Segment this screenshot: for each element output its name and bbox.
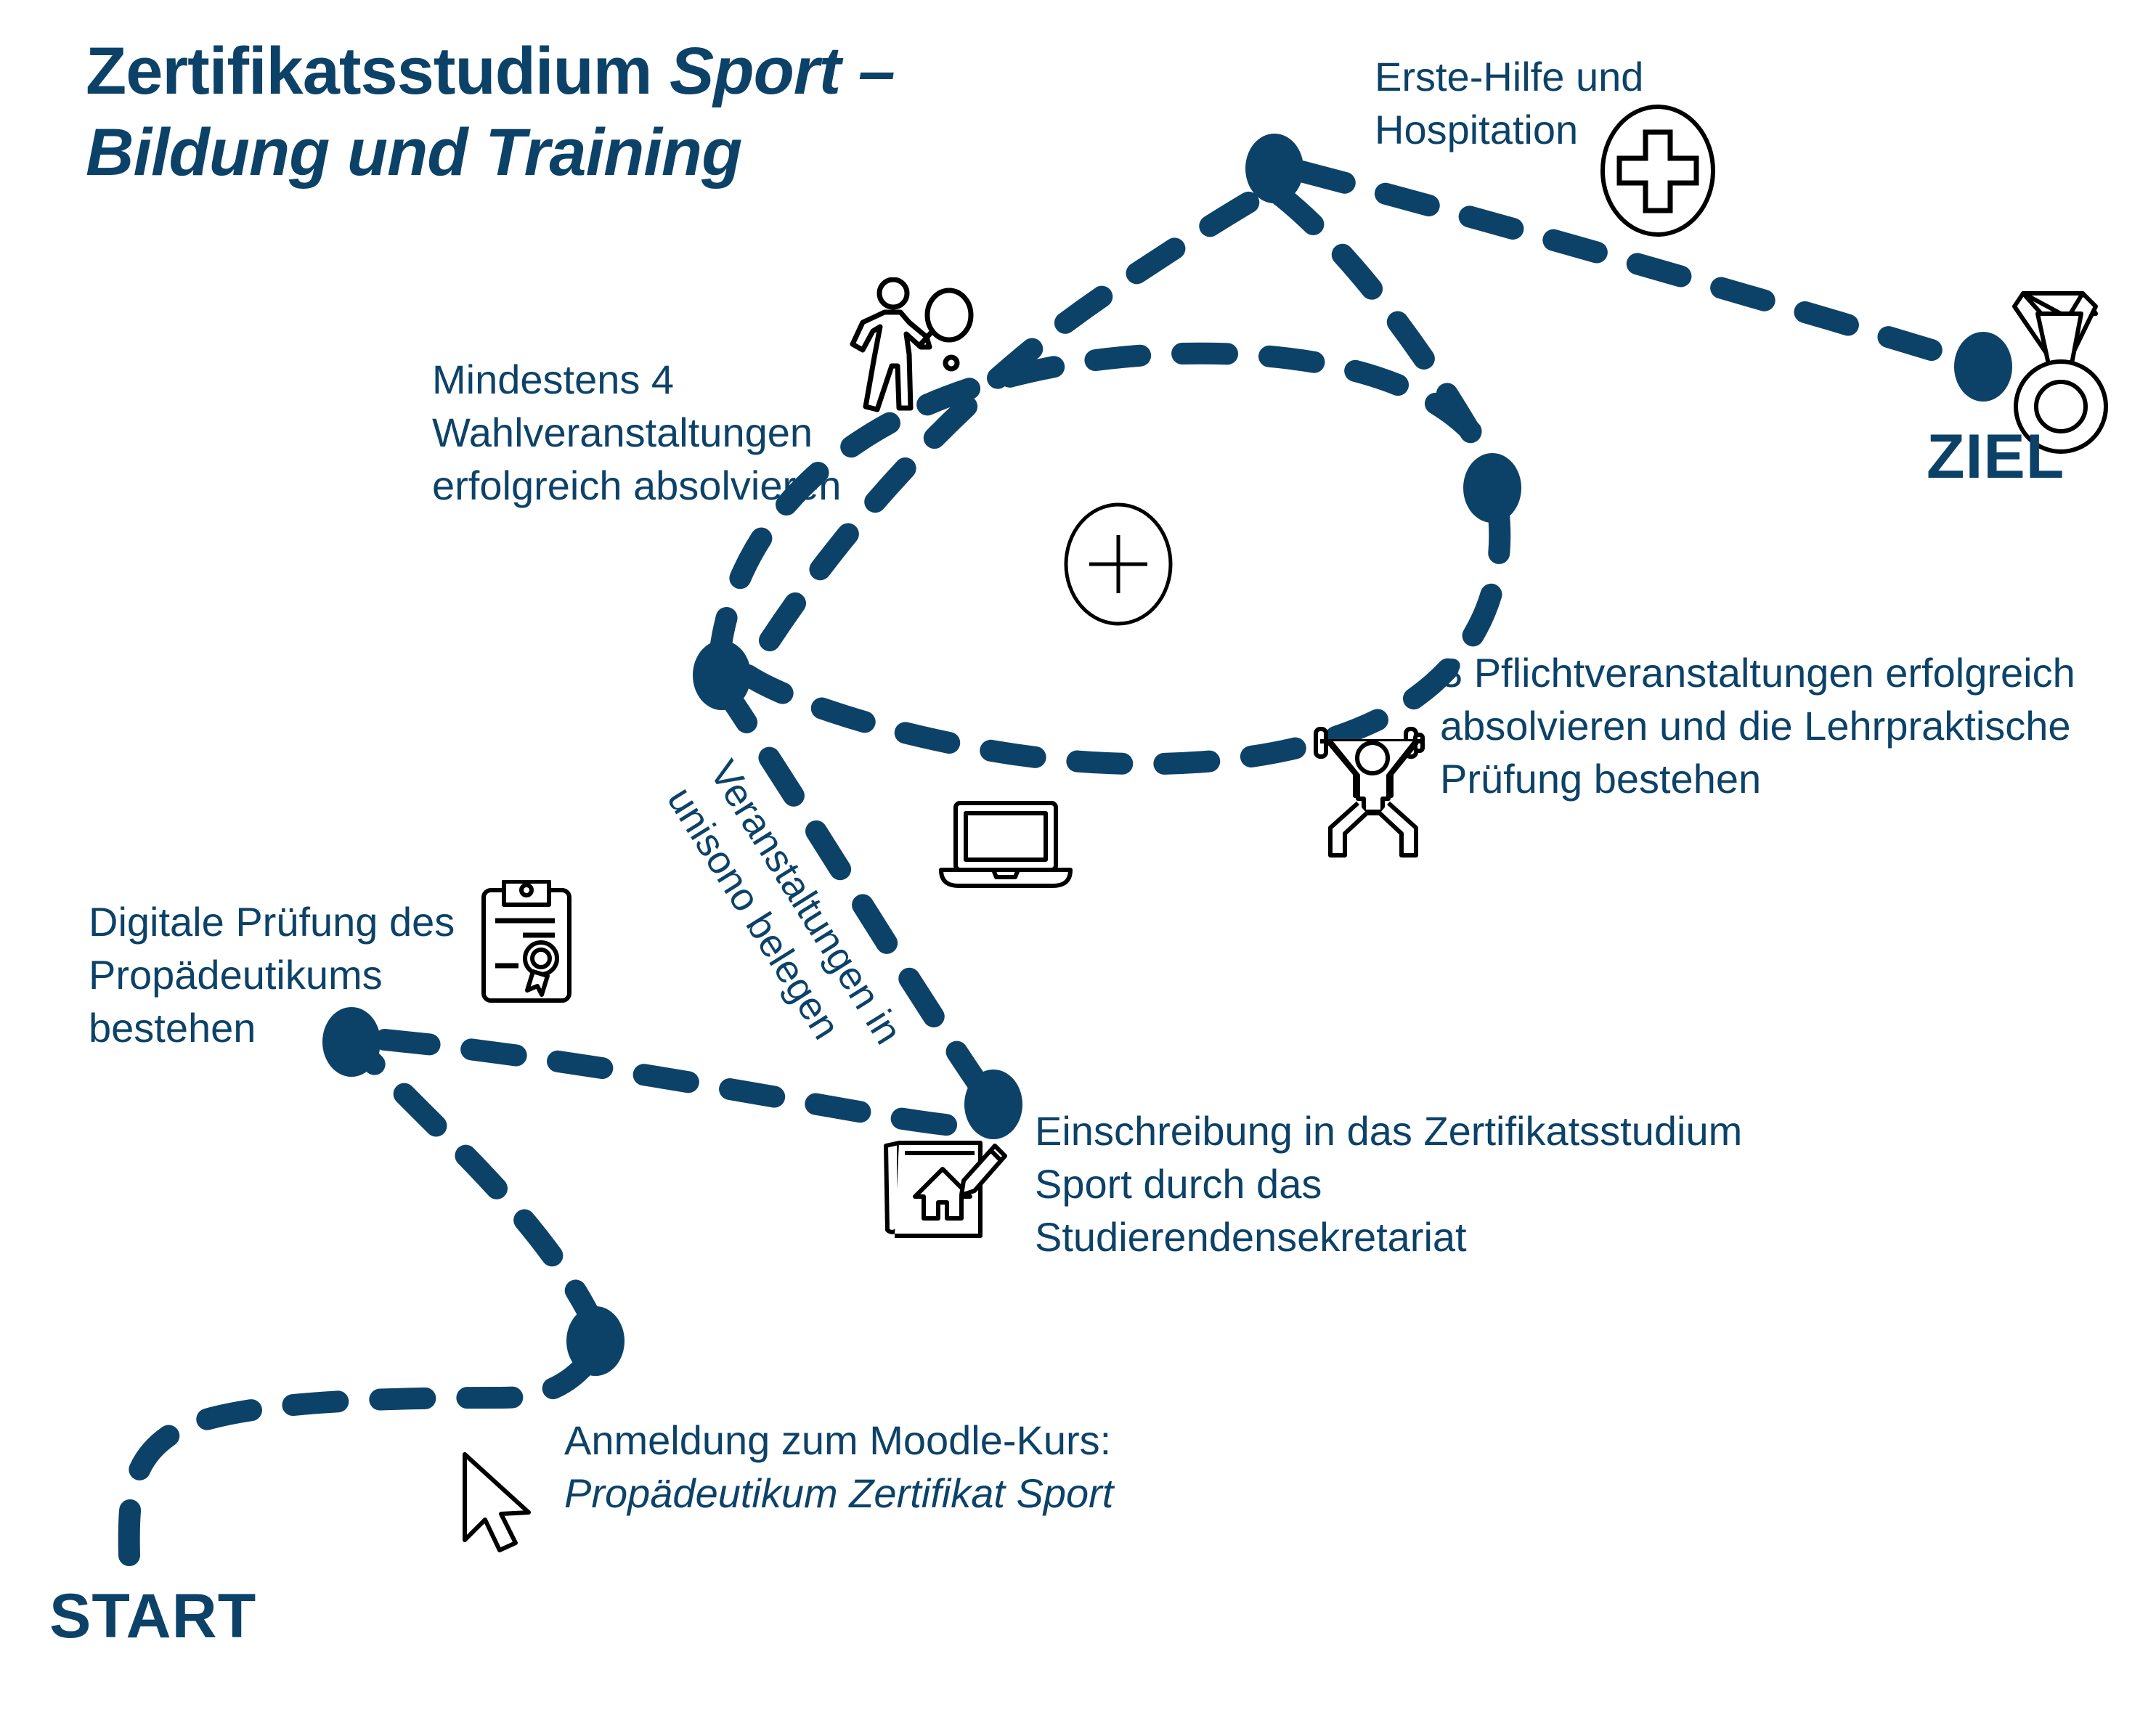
digital-line1: Digitale Prüfung des: [89, 899, 455, 945]
erste-hilfe-line1: Erste-Hilfe und: [1375, 54, 1643, 99]
station-dot-ziel: [1954, 332, 2012, 402]
wahl-line3: erfolgreich absolvieren: [432, 463, 841, 508]
einschreibung-line1: Einschreibung in das Zertifikatsstudium: [1035, 1108, 1742, 1154]
laptop-icon: [937, 799, 1075, 893]
cursor-arrow-icon: [455, 1449, 542, 1557]
station-dot-anmeldung: [566, 1306, 625, 1376]
digital-line3: bestehen: [89, 1005, 256, 1051]
title-line2-italic: Bildung und Training: [86, 115, 741, 190]
infographic-canvas: Zertifikatsstudium Sport –Bildung und Tr…: [0, 0, 2156, 1715]
einschreibung-line3: Studierendensekretariat: [1035, 1214, 1467, 1260]
path-segment-wahl-to-erstehilfe: [770, 190, 1269, 640]
weightlifter-icon: [1313, 717, 1433, 859]
step-label-einschreibung: Einschreibung in das ZertifikatsstudiumS…: [1035, 1105, 1742, 1263]
path-segment-anmeldung-to-digital: [357, 1047, 597, 1330]
title-line1-plain: Zertifikatsstudium: [86, 34, 670, 108]
pflicht-line2: absolvieren und die Lehrpraktische: [1440, 703, 2071, 749]
title-line1-italic: Sport –: [670, 34, 895, 108]
step-label-erste-hilfe: Erste-Hilfe undHospitation: [1375, 51, 1643, 157]
pflicht-line1: 3 Pflichtveranstaltungen erfolgreich: [1440, 650, 2075, 696]
digital-line2: Propädeutikums: [89, 952, 383, 998]
erste-hilfe-line2: Hospitation: [1375, 107, 1578, 152]
step-label-digitale-pruefung: Digitale Prüfung desPropädeutikumsbesteh…: [89, 896, 455, 1054]
blueprint-house-pencil-icon: [880, 1137, 1011, 1257]
start-marker-label: START: [49, 1581, 256, 1653]
station-dot-pflicht: [1463, 453, 1521, 523]
station-dot-einschreibung: [964, 1070, 1022, 1139]
pflicht-line3: Prüfung bestehen: [1440, 756, 1761, 802]
station-dot-wahl: [693, 640, 751, 710]
path-segment-digital-to-einschreibung: [385, 1040, 982, 1128]
page-title: Zertifikatsstudium Sport –Bildung und Tr…: [86, 30, 895, 193]
step-label-anmeldung: Anmeldung zum Moodle-Kurs:Propädeutikum …: [564, 1414, 1113, 1520]
station-dot-erste-hilfe: [1245, 134, 1303, 203]
step-label-pflichtveranstaltungen: 3 Pflichtveranstaltungen erfolgreichabso…: [1440, 647, 2075, 805]
clipboard-certificate-icon: [479, 880, 588, 1014]
tennis-player-icon: [837, 277, 982, 415]
step-label-wahlveranstaltungen: Mindestens 4Wahlveranstaltungenerfolgrei…: [432, 354, 841, 512]
path-segment-erstehilfe-to-right: [1280, 195, 1494, 475]
anmeldung-line2-italic: Propädeutikum Zertifikat Sport: [564, 1470, 1113, 1516]
goal-marker-label: ZIEL: [1927, 421, 2065, 493]
plus-circle-icon: [1059, 501, 1179, 628]
einschreibung-line2: Sport durch das: [1035, 1161, 1322, 1207]
wahl-line2: Wahlveranstaltungen: [432, 410, 813, 455]
anmeldung-line1: Anmeldung zum Moodle-Kurs:: [564, 1417, 1111, 1463]
wahl-line1: Mindestens 4: [432, 357, 674, 402]
